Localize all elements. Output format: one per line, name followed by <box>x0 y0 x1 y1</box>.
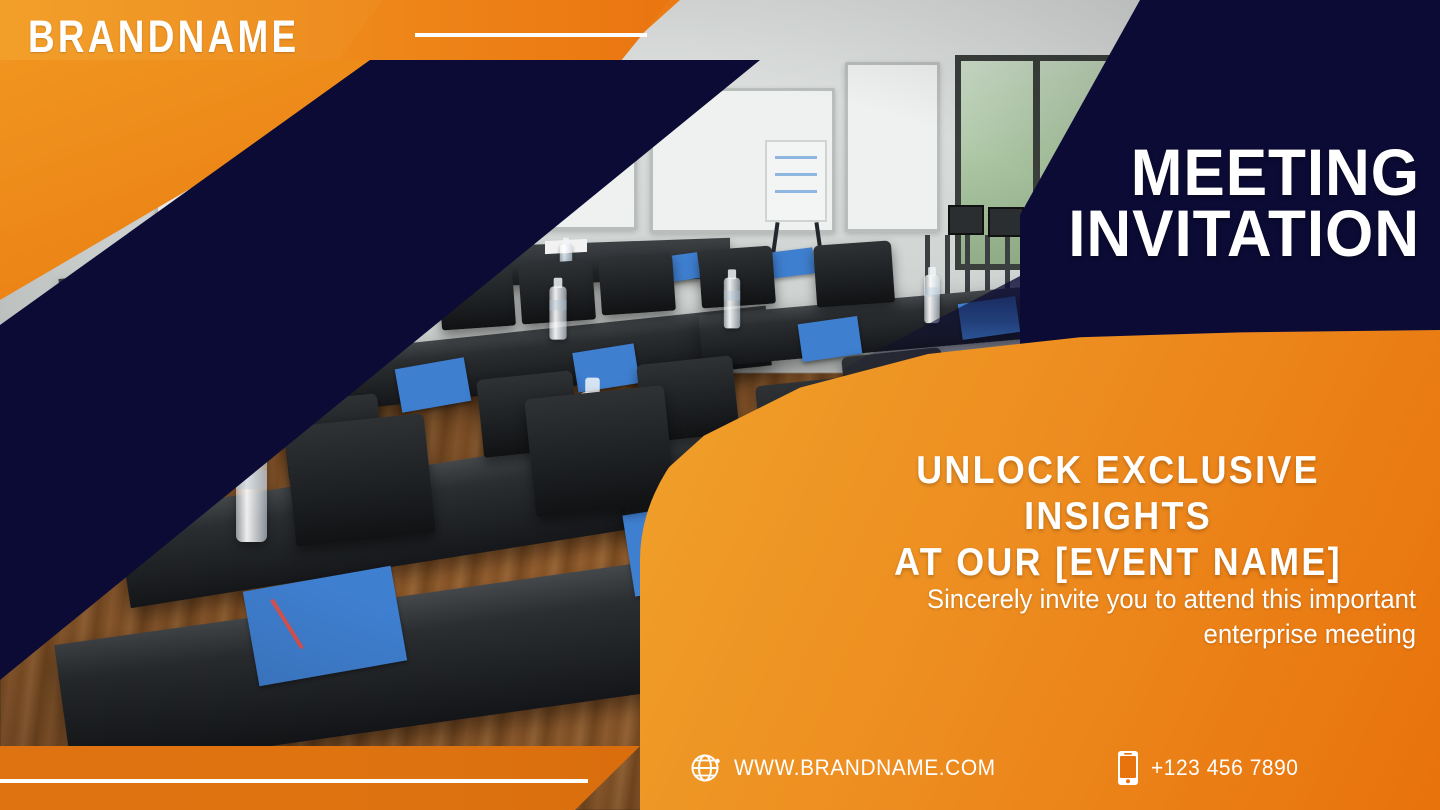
headline: UNLOCK EXCLUSIVE INSIGHTS AT OUR [EVENT … <box>818 448 1418 586</box>
invitation-subtext: Sincerely invite you to attend this impo… <box>827 582 1416 651</box>
title-line-1: MEETING <box>931 142 1420 203</box>
title-line-2: INVITATION <box>931 203 1420 264</box>
phone-contact[interactable]: +123 456 7890 <box>1117 750 1306 786</box>
footer-contacts: WWW.BRANDNAME.COM +123 456 7890 <box>690 744 1430 792</box>
website-contact[interactable]: WWW.BRANDNAME.COM <box>690 752 1009 784</box>
meeting-invitation-poster: BRANDNAME MEETING INVITATION UNLOCK EXCL… <box>0 0 1440 810</box>
website-label: WWW.BRANDNAME.COM <box>734 755 996 781</box>
poster-title: MEETING INVITATION <box>900 142 1420 263</box>
mobile-phone-icon <box>1117 750 1139 786</box>
bottom-divider-line <box>0 779 588 783</box>
phone-label: +123 456 7890 <box>1151 755 1298 781</box>
headline-line-1: UNLOCK EXCLUSIVE INSIGHTS <box>842 448 1394 540</box>
brand-logo-text: BRANDNAME <box>28 11 299 63</box>
top-divider-line <box>415 33 647 37</box>
globe-icon <box>690 752 722 784</box>
headline-line-2: AT OUR [EVENT NAME] <box>842 540 1394 586</box>
